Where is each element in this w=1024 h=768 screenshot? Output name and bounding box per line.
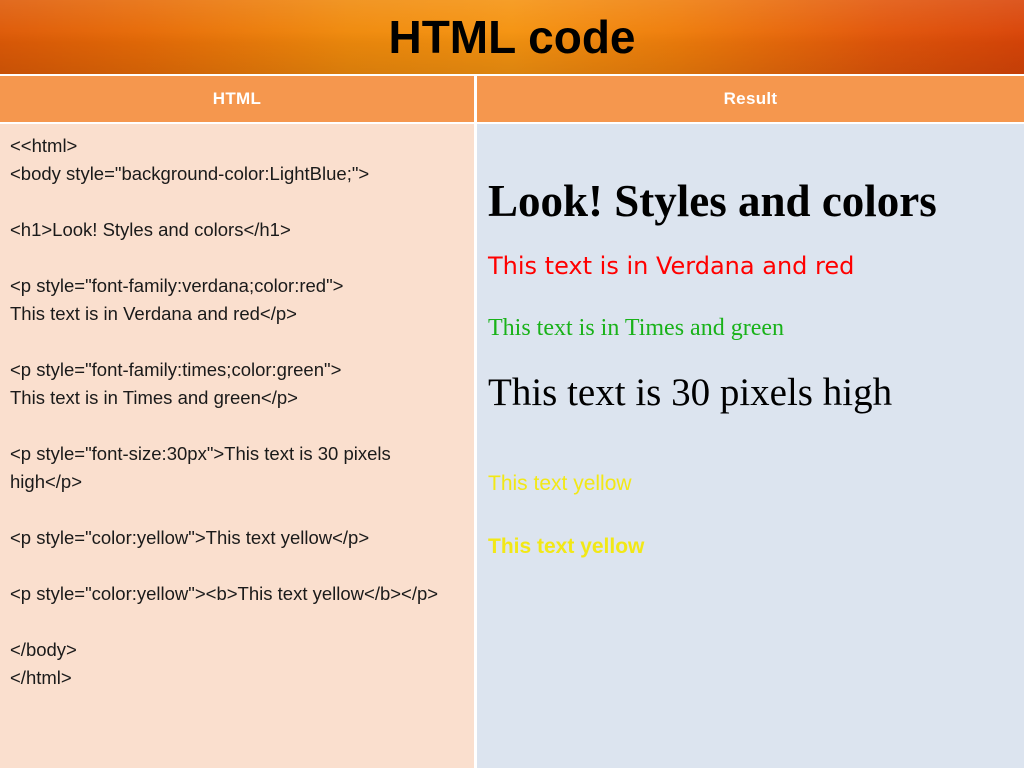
code-listing: <<html><body style="background-color:Lig…: [10, 132, 466, 692]
code-line: This text is in Verdana and red</p>: [10, 300, 466, 328]
title-banner: HTML code: [0, 0, 1024, 74]
code-line: </body>: [10, 636, 466, 664]
code-line: <h1>Look! Styles and colors</h1>: [10, 216, 466, 244]
result-preview-pane: Look! Styles and colors This text is in …: [477, 124, 1024, 768]
slide-root: HTML code HTML Result <<html><body style…: [0, 0, 1024, 768]
code-line: </html>: [10, 664, 466, 692]
code-line: <p style="font-family:times;color:green"…: [10, 356, 466, 384]
code-line: <p style="font-size:30px">This text is 3…: [10, 440, 466, 496]
body-row: <<html><body style="background-color:Lig…: [0, 124, 1024, 768]
code-line: <p style="font-family:verdana;color:red"…: [10, 272, 466, 300]
column-header-result: Result: [477, 76, 1024, 122]
code-line: [10, 244, 466, 272]
result-paragraph-times-green: This text is in Times and green: [488, 314, 1010, 342]
code-line: [10, 552, 466, 580]
code-line: <<html>: [10, 132, 466, 160]
code-line: [10, 188, 466, 216]
code-line: [10, 608, 466, 636]
column-header-html: HTML: [0, 76, 477, 122]
code-line: <p style="color:yellow"><b>This text yel…: [10, 580, 466, 608]
code-line: <body style="background-color:LightBlue;…: [10, 160, 466, 188]
column-header-result-label: Result: [724, 89, 778, 109]
code-line: [10, 496, 466, 524]
page-title: HTML code: [388, 14, 635, 60]
code-line: <p style="color:yellow">This text yellow…: [10, 524, 466, 552]
column-header-row: HTML Result: [0, 76, 1024, 122]
code-line: [10, 328, 466, 356]
column-header-html-label: HTML: [213, 89, 261, 109]
result-paragraph-30px: This text is 30 pixels high: [488, 370, 1010, 416]
code-line: [10, 412, 466, 440]
result-paragraph-yellow-bold: This text yellow: [488, 534, 1010, 560]
result-paragraph-yellow: This text yellow: [488, 471, 1010, 497]
result-paragraph-verdana-red: This text is in Verdana and red: [488, 252, 1010, 280]
code-line: This text is in Times and green</p>: [10, 384, 466, 412]
result-heading: Look! Styles and colors: [488, 176, 1010, 226]
html-code-pane: <<html><body style="background-color:Lig…: [0, 124, 477, 768]
